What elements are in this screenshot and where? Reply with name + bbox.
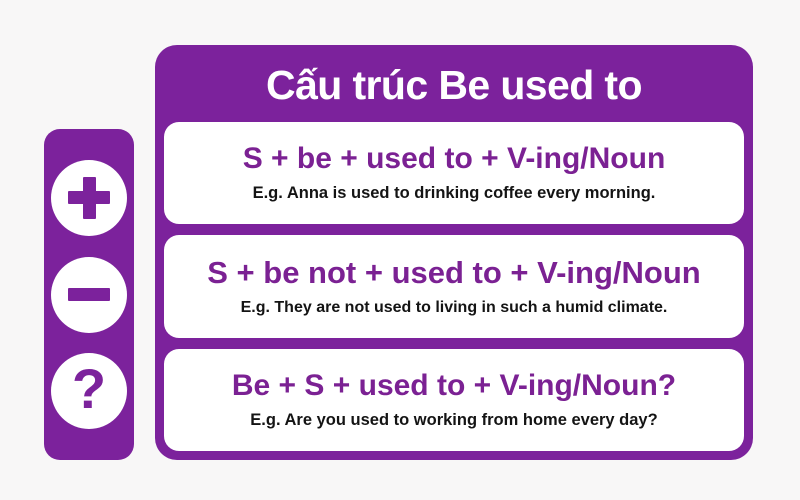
infographic-canvas: ? Cấu trúc Be used to S + be + used to +… (0, 0, 800, 500)
formula-text: Be + S + used to + V-ing/Noun? (232, 370, 676, 402)
question-mark-glyph: ? (72, 361, 106, 417)
structure-card-negative: S + be not + used to + V-ing/Noun E.g. T… (164, 235, 744, 337)
minus-icon (51, 257, 127, 333)
symbol-rail: ? (44, 129, 134, 460)
example-text: E.g. Anna is used to drinking coffee eve… (253, 184, 656, 203)
structure-panel: Cấu trúc Be used to S + be + used to + V… (155, 45, 753, 460)
page-title: Cấu trúc Be used to (164, 53, 744, 122)
structure-card-affirmative: S + be + used to + V-ing/Noun E.g. Anna … (164, 122, 744, 224)
plus-icon (51, 160, 127, 236)
structure-card-list: S + be + used to + V-ing/Noun E.g. Anna … (164, 122, 744, 451)
structure-card-interrogative: Be + S + used to + V-ing/Noun? E.g. Are … (164, 349, 744, 451)
question-mark-icon: ? (51, 353, 127, 429)
formula-text: S + be not + used to + V-ing/Noun (207, 256, 700, 289)
example-text: E.g. Are you used to working from home e… (250, 411, 657, 430)
formula-text: S + be + used to + V-ing/Noun (243, 143, 666, 175)
example-text: E.g. They are not used to living in such… (241, 299, 668, 317)
